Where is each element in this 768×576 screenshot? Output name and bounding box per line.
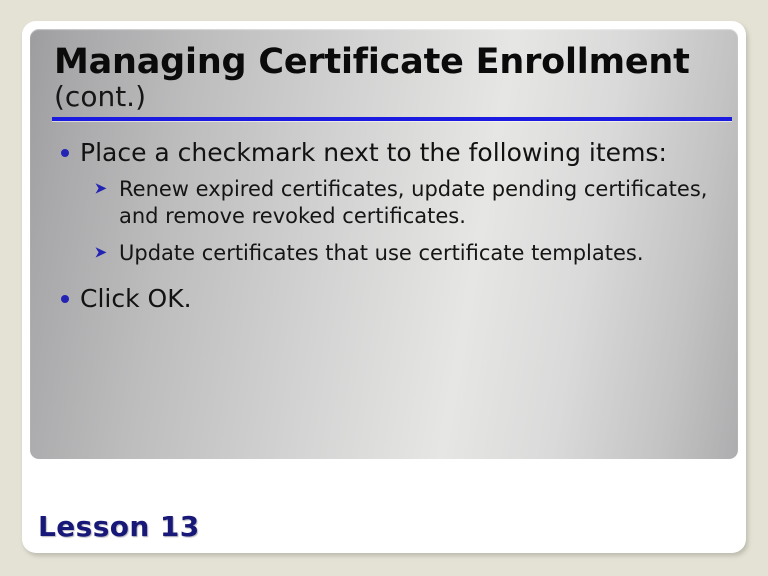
slide-card: Managing Certificate Enrollment (cont.) …: [22, 21, 746, 553]
list-item-label: Renew expired certificates, update pendi…: [119, 177, 707, 228]
list-item: Click OK.: [54, 283, 720, 314]
list-item-label: Update certificates that use certificate…: [119, 241, 644, 265]
list-item: Renew expired certificates, update pendi…: [94, 176, 720, 230]
page-title: Managing Certificate Enrollment: [54, 41, 722, 83]
sub-list: Renew expired certificates, update pendi…: [54, 176, 720, 267]
list-item-label: Click OK.: [80, 284, 192, 313]
title-divider: [52, 117, 732, 121]
bullet-dot-icon: [61, 149, 69, 157]
slide-root: Managing Certificate Enrollment (cont.) …: [0, 0, 768, 576]
lesson-footer: Lesson 13: [38, 510, 200, 543]
list-item: Update certificates that use certificate…: [94, 240, 720, 267]
slide-content-panel: Managing Certificate Enrollment (cont.) …: [30, 29, 738, 459]
slide-title-block: Managing Certificate Enrollment (cont.): [54, 41, 722, 113]
bullet-dot-icon: [61, 295, 69, 303]
arrow-right-icon: [94, 181, 109, 196]
list-item: Place a checkmark next to the following …: [54, 137, 720, 168]
arrow-right-icon: [94, 245, 109, 260]
slide-body: Place a checkmark next to the following …: [54, 137, 720, 316]
list-item-label: Place a checkmark next to the following …: [80, 138, 667, 167]
page-title-continuation: (cont.): [54, 81, 722, 113]
